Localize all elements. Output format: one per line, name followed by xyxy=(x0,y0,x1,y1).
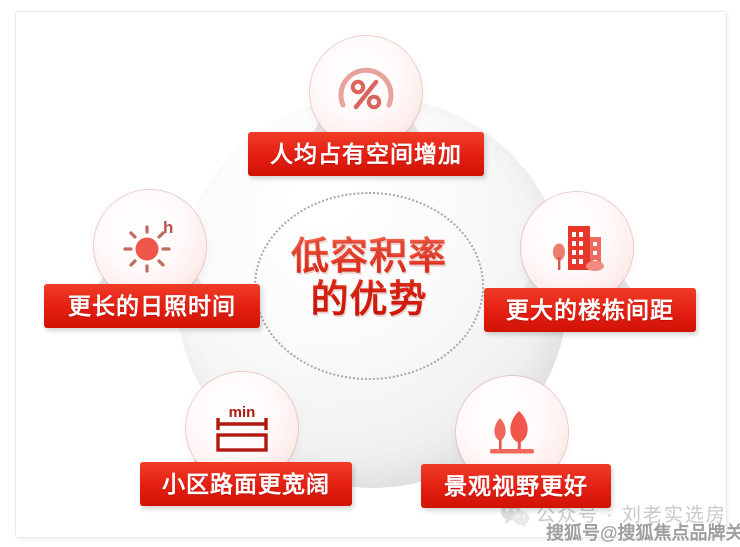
min-width-road-icon: min xyxy=(207,393,277,463)
trees-landscape-icon xyxy=(477,397,547,467)
node-br-label[interactable]: 景观视野更好 xyxy=(421,464,611,508)
node-bl-label[interactable]: 小区路面更宽阔 xyxy=(140,462,352,506)
center-title-line2: 的优势 xyxy=(255,279,483,322)
infographic-canvas: 低容积率 的优势 人均占有空间增加 xyxy=(0,0,740,547)
buildings-spacing-icon xyxy=(542,213,612,283)
sun-hours-icon: h xyxy=(115,211,185,281)
svg-text:h: h xyxy=(163,218,173,237)
center-title-line1: 低容积率 xyxy=(291,236,447,278)
percent-gauge-icon xyxy=(331,57,401,127)
watermark-sohu-text: 搜狐号@搜狐焦点品牌关站 xyxy=(546,519,740,545)
svg-text:min: min xyxy=(229,404,256,421)
node-left-label[interactable]: 更长的日照时间 xyxy=(44,284,260,328)
center-title: 低容积率 的优势 xyxy=(255,236,483,321)
node-right-label[interactable]: 更大的楼栋间距 xyxy=(484,288,696,332)
node-top-label[interactable]: 人均占有空间增加 xyxy=(248,132,484,176)
